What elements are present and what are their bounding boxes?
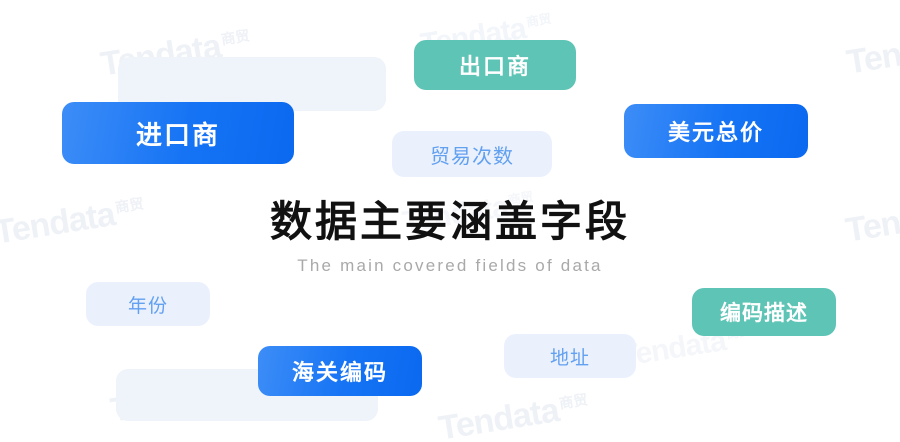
tag-label: 海关编码 <box>292 355 388 387</box>
tag-exporter[interactable]: 出口商 <box>414 40 576 90</box>
tag-label: 编码描述 <box>720 297 808 327</box>
tag-trade-count[interactable]: 贸易次数 <box>392 131 552 177</box>
page-title: 数据主要涵盖字段 <box>0 198 900 246</box>
tendata-watermark: Tendata商贸 <box>436 386 592 442</box>
tag-label: 贸易次数 <box>430 140 514 169</box>
tag-code-description[interactable]: 编码描述 <box>692 288 836 336</box>
watermark-text: Tendata <box>436 391 561 442</box>
watermark-text: Tendata <box>844 25 900 81</box>
tendata-watermark: Tendata商贸 <box>844 20 900 82</box>
page-subtitle: The main covered fields of data <box>0 256 900 276</box>
tag-label: 进口商 <box>136 115 220 152</box>
tag-label: 美元总价 <box>668 115 764 147</box>
tag-label: 地址 <box>550 343 590 370</box>
watermark-cn-text: 商贸 <box>220 28 251 48</box>
infographic-canvas: Tendata商贸 Tendata商贸 Tendata商贸 Tendata商贸 … <box>0 0 900 442</box>
tag-importer[interactable]: 进口商 <box>62 102 294 164</box>
tag-label: 年份 <box>128 291 168 318</box>
headline-block: 数据主要涵盖字段 The main covered fields of data <box>0 198 900 276</box>
tag-label: 出口商 <box>459 49 531 81</box>
tag-customs-code[interactable]: 海关编码 <box>258 346 422 396</box>
tag-year[interactable]: 年份 <box>86 282 210 326</box>
watermark-cn-text: 商贸 <box>525 12 552 30</box>
tag-usd-total[interactable]: 美元总价 <box>624 104 808 158</box>
tag-address[interactable]: 地址 <box>504 334 636 378</box>
watermark-cn-text: 商贸 <box>558 392 589 412</box>
